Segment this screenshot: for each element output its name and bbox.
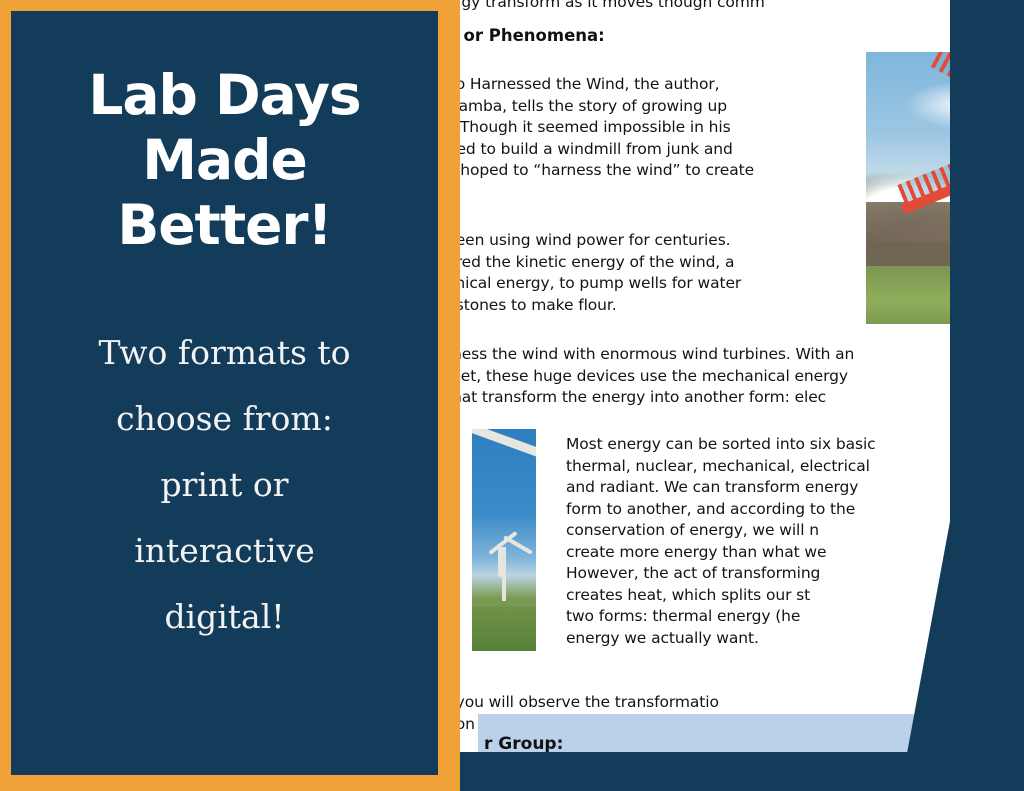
doc-p1-l5: e hoped to “harness the wind” to create bbox=[446, 160, 754, 182]
promo-subtitle: Two formats to choose from: print or int… bbox=[55, 320, 395, 650]
doc-p3-bold-elec: elec bbox=[795, 388, 827, 406]
document-body: ergy transform as it moves though comm d… bbox=[454, 0, 950, 752]
doc-p1-l4: ried to build a windmill from junk and bbox=[446, 139, 754, 161]
windmill-grass bbox=[866, 266, 950, 324]
promo-card-inner: Lab Days Made Better! Two formats to cho… bbox=[11, 11, 438, 775]
doc-p1-l1-rest: , the author, bbox=[625, 75, 720, 93]
doc-paragraph-4: Most energy can be sorted into six basic… bbox=[566, 434, 876, 649]
doc-p2-l1: been using wind power for centuries. bbox=[446, 230, 741, 252]
doc-p1-l2: wamba, tells the story of growing up bbox=[446, 96, 754, 118]
doc-p4-l3: and radiant. We can transform energy bbox=[566, 477, 876, 499]
doc-book-title: ho Harnessed the Wind bbox=[446, 75, 625, 93]
windmill-photo bbox=[866, 52, 950, 324]
doc-p2-l3-rest: energy, to pump wells for water bbox=[491, 274, 741, 292]
doc-p4-l9: two forms: thermal energy (he bbox=[566, 606, 876, 628]
worksheet-document: ergy transform as it moves though comm d… bbox=[430, 0, 950, 752]
doc-p4-l2: thermal, nuclear, mechanical, electrical bbox=[566, 456, 876, 478]
doc-paragraph-3: rness the wind with enormous wind turbin… bbox=[446, 344, 854, 409]
turbine-blade-2 bbox=[503, 535, 533, 554]
doc-p4-l4: form to another, and according to the bbox=[566, 499, 876, 521]
promo-title-line-3: Better! bbox=[45, 193, 405, 258]
promo-title-line-1: Lab Days bbox=[45, 63, 405, 128]
wind-turbine-photo bbox=[472, 429, 536, 651]
turbine-foreground-blade bbox=[472, 429, 536, 461]
doc-p2-l2: ured the kinetic energy of the wind, a bbox=[446, 252, 741, 274]
promo-subtitle-line-3: print or bbox=[55, 452, 395, 518]
promo-subtitle-line-2: choose from: bbox=[55, 386, 395, 452]
doc-p3-l1: rness the wind with enormous wind turbin… bbox=[446, 344, 854, 366]
promo-subtitle-line-4: interactive bbox=[55, 518, 395, 584]
turbine-grass bbox=[472, 607, 536, 651]
promo-card: Lab Days Made Better! Two formats to cho… bbox=[0, 0, 460, 791]
doc-p3-l2: feet, these huge devices use the mechani… bbox=[446, 366, 854, 388]
doc-p4-l8: creates heat, which splits our st bbox=[566, 585, 876, 607]
doc-p4-l6: create more energy than what we bbox=[566, 542, 876, 564]
doc-top-partial-line: ergy transform as it moves though comm bbox=[446, 0, 765, 14]
doc-p2-l4: dstones to make flour. bbox=[446, 295, 741, 317]
doc-p4-l5-rest: , we will n bbox=[743, 521, 819, 539]
doc-p3-l3-b: the energy into another form: bbox=[557, 388, 795, 406]
slide-canvas: ergy transform as it moves though comm d… bbox=[0, 0, 1024, 791]
doc-paragraph-1: ho Harnessed the Wind, the author, wamba… bbox=[446, 74, 754, 182]
doc-p4-bold-phrase: conservation of energy bbox=[566, 521, 743, 539]
windmill-cloud-upper bbox=[906, 82, 950, 128]
group-section-label: r Group: bbox=[484, 734, 563, 752]
promo-subtitle-line-1: Two formats to bbox=[55, 320, 395, 386]
doc-p5-l1: , you will observe the transformatio bbox=[446, 692, 719, 714]
doc-p3-bold-transform: transform bbox=[482, 388, 557, 406]
doc-p4-l10: energy we actually want. bbox=[566, 628, 876, 650]
doc-section-heading: d or Phenomena: bbox=[446, 26, 605, 45]
doc-p4-l7: However, the act of transforming bbox=[566, 563, 876, 585]
doc-p1-l3: i. Though it seemed impossible in his bbox=[446, 117, 754, 139]
doc-paragraph-2: been using wind power for centuries. ure… bbox=[446, 230, 741, 316]
turbine-blade-3 bbox=[498, 547, 503, 577]
promo-title: Lab Days Made Better! bbox=[45, 63, 405, 258]
doc-p4-l1: Most energy can be sorted into six basic bbox=[566, 434, 876, 456]
promo-subtitle-line-5: digital! bbox=[55, 584, 395, 650]
promo-title-line-2: Made bbox=[45, 128, 405, 193]
